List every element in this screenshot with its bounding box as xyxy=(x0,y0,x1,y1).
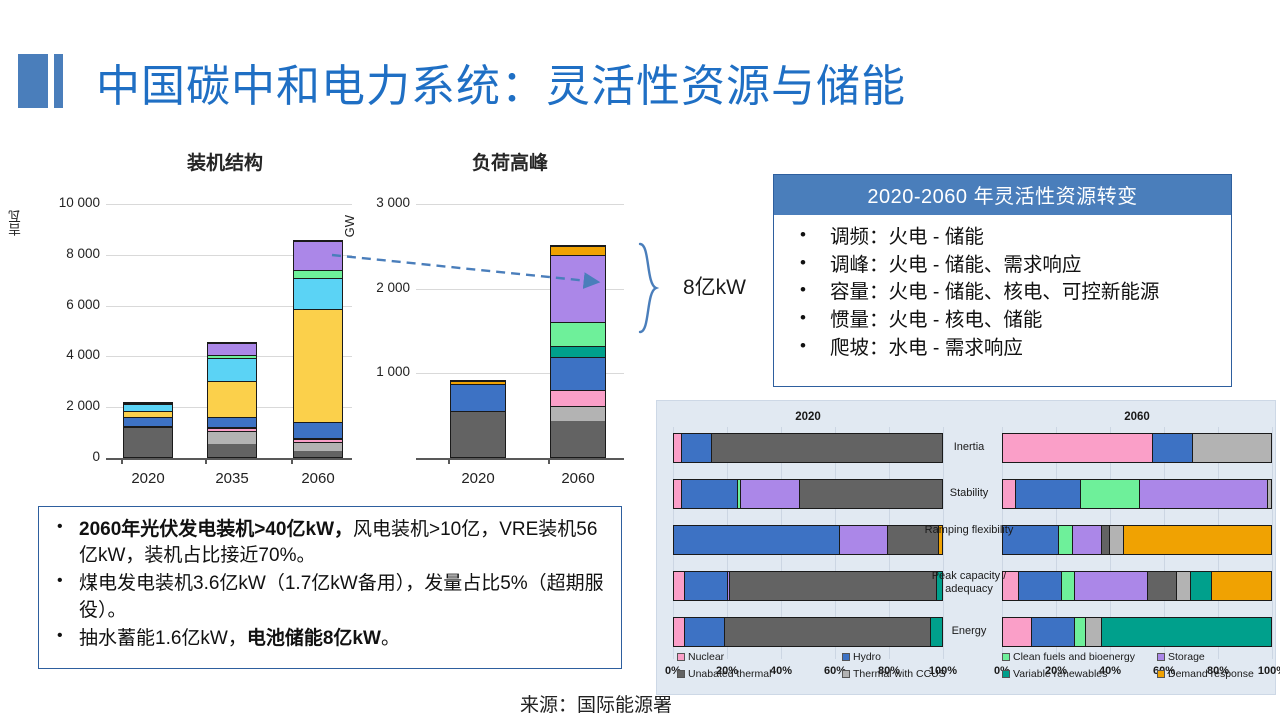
page-title: 中国碳中和电力系统：灵活性资源与储能 xyxy=(96,50,906,114)
bar-segment xyxy=(208,355,256,358)
bar-segment xyxy=(294,451,342,457)
iea-flexibility-panel: 20202060InertiaStabilityRamping flexibil… xyxy=(656,400,1276,695)
source-note: 来源：国际能源署 xyxy=(520,690,672,717)
iea-bar-2060-0 xyxy=(1002,433,1272,463)
iea-row-label: Stability xyxy=(924,487,1014,500)
iea-bar-segment xyxy=(1059,526,1072,554)
iea-bar-2020-2 xyxy=(673,525,943,555)
slide-root: 中国碳中和电力系统：灵活性资源与储能 装机结构吉瓦02 0004 0006 00… xyxy=(0,0,1280,720)
iea-bar-segment xyxy=(1110,526,1123,554)
x-axis-label: 2020 xyxy=(108,470,188,487)
x-axis-label: 2060 xyxy=(278,470,358,487)
bar-segment xyxy=(294,442,342,450)
bar-segment xyxy=(124,403,172,404)
bar-segment xyxy=(208,343,256,355)
iea-legend-label: Unabated thermal xyxy=(688,668,771,680)
iea-bar-segment xyxy=(1102,526,1110,554)
iea-legend-item: Variable renewables xyxy=(1002,668,1107,680)
x-axis-label: 2035 xyxy=(192,470,272,487)
bar-segment xyxy=(124,428,172,457)
bar-segment xyxy=(294,422,342,438)
y-axis-tick: 8 000 xyxy=(28,246,100,261)
y-axis-tick: 0 xyxy=(28,449,100,464)
y-axis-tick: 4 000 xyxy=(28,347,100,362)
bar-segment xyxy=(124,404,172,411)
y-axis-unit-label: 吉瓦 xyxy=(6,210,25,236)
note-bullet-1: 煤电发电装机3.6亿kW（1.7亿kW备用），发量占比5%（超期服役）。 xyxy=(51,571,611,623)
flexibility-transition-box: 2020-2060 年灵活性资源转变 调频：火电 - 储能 调峰：火电 - 储能… xyxy=(773,174,1232,387)
iea-bar-segment xyxy=(685,572,728,600)
iea-bar-segment xyxy=(840,526,888,554)
iea-legend-item: Hydro xyxy=(842,651,881,663)
bar-segment xyxy=(208,444,256,457)
note-run: 煤电发电装机3.6亿kW（1.7亿kW备用），发量占比5%（超期服役）。 xyxy=(79,573,604,620)
bar-segment xyxy=(294,309,342,422)
iea-bar-2060-1 xyxy=(1002,479,1272,509)
flex-item-4: 爬坡：水电 - 需求响应 xyxy=(796,335,1221,363)
iea-bar-segment xyxy=(1062,572,1075,600)
iea-bar-segment xyxy=(1073,526,1102,554)
iea-bar-segment xyxy=(1086,618,1102,646)
bar-segment xyxy=(551,346,605,357)
flex-item-3: 惯量：火电 - 核电、储能 xyxy=(796,307,1221,335)
bar-segment xyxy=(208,428,256,431)
bar-segment xyxy=(294,439,342,442)
iea-bar-segment xyxy=(730,572,936,600)
iea-bar-segment xyxy=(1148,572,1177,600)
bar-segment xyxy=(124,427,172,428)
bar-segment xyxy=(208,417,256,427)
iea-legend-label: Clean fuels and bioenergy xyxy=(1013,651,1135,663)
gridline xyxy=(416,373,624,374)
iea-bar-segment xyxy=(1019,572,1062,600)
iea-bar-segment xyxy=(1102,618,1271,646)
iea-bar-2060-4 xyxy=(1002,617,1272,647)
bar-segment xyxy=(208,431,256,443)
iea-bar-2020-3 xyxy=(673,571,943,601)
bar-segment xyxy=(551,357,605,390)
stacked-bar-2020 xyxy=(450,380,506,458)
x-axis-tick-mark xyxy=(291,458,293,464)
y-axis-tick: 6 000 xyxy=(28,297,100,312)
bar-segment xyxy=(124,411,172,417)
x-axis-label: 2020 xyxy=(438,470,518,487)
iea-bar-segment xyxy=(1081,480,1140,508)
bar-segment xyxy=(208,381,256,417)
iea-bar-2020-4 xyxy=(673,617,943,647)
gridline xyxy=(106,204,352,205)
iea-bar-segment xyxy=(712,434,942,462)
iea-bar-segment xyxy=(800,480,942,508)
bar-segment xyxy=(208,358,256,380)
stacked-bar-2035 xyxy=(207,342,257,458)
iea-x-tick: 100% xyxy=(1250,665,1280,677)
iea-legend-label: Storage xyxy=(1168,651,1205,663)
iea-bar-segment xyxy=(674,434,682,462)
iea-bar-segment xyxy=(1075,618,1086,646)
gridline xyxy=(106,255,352,256)
bar-segment xyxy=(451,381,505,384)
chart-title: 装机结构 xyxy=(100,148,350,175)
note-run-bold: 2060年光伏发电装机>40亿kW， xyxy=(79,519,353,540)
iea-legend-label: Nuclear xyxy=(688,651,724,663)
iea-legend-swatch-icon xyxy=(1002,653,1010,661)
iea-bar-segment xyxy=(674,572,685,600)
x-axis-tick-mark xyxy=(548,458,550,464)
gridline xyxy=(416,204,624,205)
y-axis-tick: 1 000 xyxy=(338,364,410,379)
iea-bar-segment xyxy=(685,618,725,646)
bar-segment xyxy=(551,390,605,406)
dashed-arrow-annotation xyxy=(330,245,630,295)
flex-item-0: 调频：火电 - 储能 xyxy=(796,224,1221,252)
iea-row-label: Inertia xyxy=(924,441,1014,454)
iea-bar-2020-1 xyxy=(673,479,943,509)
flexibility-box-list: 调频：火电 - 储能 调峰：火电 - 储能、需求响应 容量：火电 - 储能、核电… xyxy=(774,215,1231,372)
x-axis-tick-mark xyxy=(121,458,123,464)
iea-panel-title: 2020 xyxy=(673,411,943,423)
iea-bar-segment xyxy=(1268,480,1271,508)
iea-bar-segment xyxy=(1153,434,1193,462)
x-axis-line xyxy=(416,458,624,460)
flex-item-1: 调峰：火电 - 储能、需求响应 xyxy=(796,252,1221,280)
note-run: 。 xyxy=(381,628,400,649)
iea-bar-segment xyxy=(1032,618,1075,646)
capacity-findings-box: 2060年光伏发电装机>40亿kW，风电装机>10亿，VRE装机56亿kW，装机… xyxy=(38,506,622,669)
iea-row-label: Peak capacity / adequacy xyxy=(924,570,1014,595)
iea-legend-item: Storage xyxy=(1157,651,1205,663)
iea-panel-title: 2060 xyxy=(1002,411,1272,423)
title-accent-bar-wide xyxy=(18,54,48,108)
iea-legend-item: Demand response xyxy=(1157,668,1254,680)
title-accent-bar-thin xyxy=(54,54,63,108)
note-bullet-0: 2060年光伏发电装机>40亿kW，风电装机>10亿，VRE装机56亿kW，装机… xyxy=(51,517,611,569)
flexibility-box-heading: 2020-2060 年灵活性资源转变 xyxy=(774,175,1231,215)
iea-row-label: Ramping flexibility xyxy=(924,524,1014,537)
iea-bar-2020-0 xyxy=(673,433,943,463)
iea-bar-segment xyxy=(1191,572,1212,600)
iea-legend-label: Variable renewables xyxy=(1013,668,1107,680)
iea-bar-segment xyxy=(1016,480,1080,508)
x-axis-tick-mark xyxy=(448,458,450,464)
iea-legend-label: Hydro xyxy=(853,651,881,663)
iea-bar-segment xyxy=(1124,526,1271,554)
x-axis-label: 2060 xyxy=(538,470,618,487)
iea-bar-segment xyxy=(1177,572,1190,600)
bar-segment xyxy=(451,384,505,410)
note-run: 抽水蓄能1.6亿kW， xyxy=(79,628,247,649)
iea-legend-label: Thermal with CCUS xyxy=(853,668,946,680)
iea-legend-swatch-icon xyxy=(1157,653,1165,661)
iea-row-label: Energy xyxy=(924,625,1014,638)
gridline xyxy=(106,356,352,357)
bar-segment xyxy=(551,322,605,346)
iea-bar-segment xyxy=(674,526,840,554)
chart-title: 负荷高峰 xyxy=(420,148,600,175)
iea-legend-label: Demand response xyxy=(1168,668,1254,680)
iea-legend-swatch-icon xyxy=(677,670,685,678)
iea-bar-segment xyxy=(674,618,685,646)
iea-legend-item: Clean fuels and bioenergy xyxy=(1002,651,1135,663)
iea-gridline xyxy=(1272,427,1273,659)
bar-segment xyxy=(551,406,605,421)
iea-bar-2060-3 xyxy=(1002,571,1272,601)
iea-legend-swatch-icon xyxy=(677,653,685,661)
flex-item-2: 容量：火电 - 储能、核电、可控新能源 xyxy=(796,279,1221,307)
iea-bar-segment xyxy=(741,480,800,508)
iea-bar-segment xyxy=(1140,480,1269,508)
iea-legend-item: Nuclear xyxy=(677,651,724,663)
iea-bar-segment xyxy=(1212,572,1271,600)
bar-segment xyxy=(451,412,505,457)
stacked-bar-2020 xyxy=(123,402,173,458)
y-axis-tick: 2 000 xyxy=(28,398,100,413)
capacity-findings-list: 2060年光伏发电装机>40亿kW，风电装机>10亿，VRE装机56亿kW，装机… xyxy=(51,517,611,652)
iea-legend-item: Unabated thermal xyxy=(677,668,771,680)
storage-8yi-kw-label: 8亿kW xyxy=(683,271,746,301)
gridline xyxy=(106,407,352,408)
iea-legend-swatch-icon xyxy=(1157,670,1165,678)
curly-brace-icon xyxy=(636,242,662,334)
iea-bar-segment xyxy=(1193,434,1271,462)
iea-bar-segment xyxy=(725,618,931,646)
x-axis-tick-mark xyxy=(205,458,207,464)
note-run-bold: 电池储能8亿kW xyxy=(247,628,381,649)
y-axis-unit-label: GW xyxy=(342,215,357,237)
y-axis-tick: 10 000 xyxy=(28,195,100,210)
iea-bar-segment xyxy=(682,434,711,462)
gridline xyxy=(106,306,352,307)
y-axis-tick: 3 000 xyxy=(338,195,410,210)
iea-legend-swatch-icon xyxy=(842,653,850,661)
bar-segment xyxy=(124,417,172,426)
bar-segment xyxy=(124,426,172,427)
bar-segment xyxy=(294,438,342,440)
iea-bar-segment xyxy=(682,480,738,508)
note-bullet-2: 抽水蓄能1.6亿kW，电池储能8亿kW。 xyxy=(51,626,611,652)
iea-legend-swatch-icon xyxy=(842,670,850,678)
iea-legend-item: Thermal with CCUS xyxy=(842,668,946,680)
x-axis-line xyxy=(106,458,352,460)
iea-bar-segment xyxy=(1003,434,1153,462)
bar-segment xyxy=(451,411,505,413)
bar-segment xyxy=(551,421,605,457)
iea-bar-segment xyxy=(674,480,682,508)
iea-bar-segment xyxy=(1075,572,1147,600)
bar-segment xyxy=(208,427,256,428)
iea-legend-swatch-icon xyxy=(1002,670,1010,678)
iea-bar-2060-2 xyxy=(1002,525,1272,555)
